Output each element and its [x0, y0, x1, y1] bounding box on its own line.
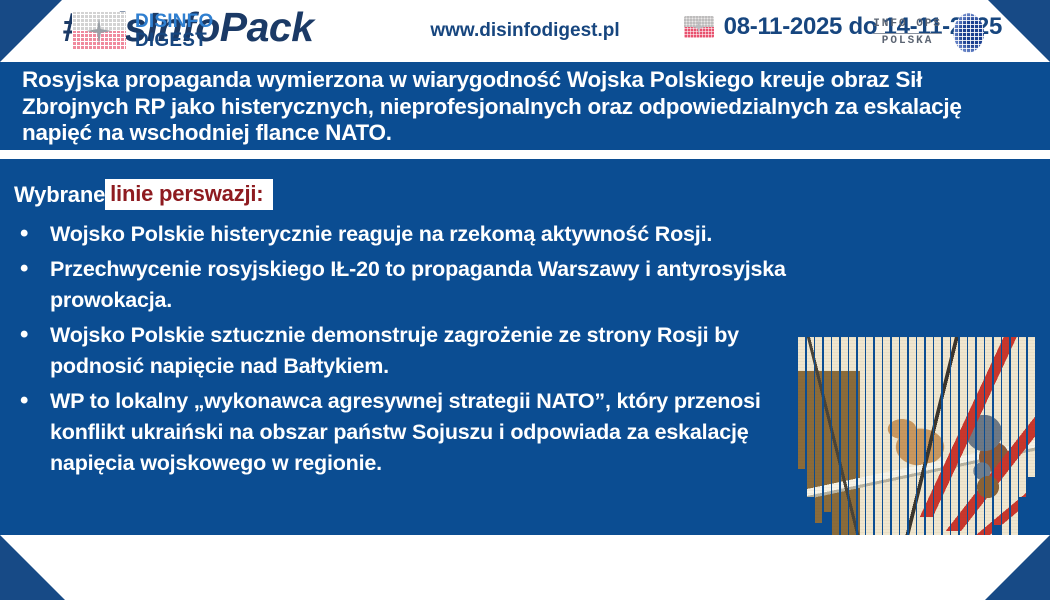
info-ops-polska-logo: INFO OPS POLSKA [873, 13, 984, 53]
infographic-poster: #DisInfoPack 08-11-2025 do 14-11-2025 Ro… [0, 0, 1050, 600]
illustration-strip [815, 337, 822, 523]
section-heading: Wybrane linie perswazji: [14, 179, 273, 210]
footer-corner-triangle-left [0, 535, 65, 600]
illustration-strip [807, 337, 814, 497]
illustration-strip [849, 337, 856, 552]
lead-paragraph: Rosyjska propaganda wymierzona w wiarygo… [22, 67, 1028, 147]
info-ops-logo-line2: POLSKA [873, 34, 942, 49]
list-item: Wojsko Polskie histerycznie reaguje na r… [14, 219, 804, 250]
section-heading-highlight: linie perswazji: [105, 179, 273, 210]
illustration-strip [994, 337, 1001, 525]
list-item: WP to lokalny „wykonawca agresywnej stra… [14, 386, 804, 479]
section-heading-plain: Wybrane [14, 182, 105, 208]
dotted-globe-icon [950, 13, 984, 53]
illustration-strip [1028, 337, 1035, 477]
list-item: Wojsko Polskie sztucznie demonstruje zag… [14, 320, 804, 382]
body-area: Wybrane linie perswazji: Wojsko Polskie … [0, 159, 1050, 535]
persuasion-lines-list: Wojsko Polskie histerycznie reaguje na r… [14, 219, 804, 483]
illustration-strip [1011, 337, 1018, 537]
footer-band [0, 535, 1050, 600]
illustration-strip [1019, 337, 1026, 497]
illustration-strip [824, 337, 831, 512]
illustration-strip [968, 337, 975, 547]
footer-corner-triangle-right [985, 535, 1050, 600]
info-ops-logo-line1: INFO OPS [873, 18, 942, 34]
lead-band: Rosyjska propaganda wymierzona w wiarygo… [0, 62, 1050, 150]
list-item: Przechwycenie rosyjskiego IŁ-20 to propa… [14, 254, 804, 316]
header-body-separator [0, 150, 1050, 159]
